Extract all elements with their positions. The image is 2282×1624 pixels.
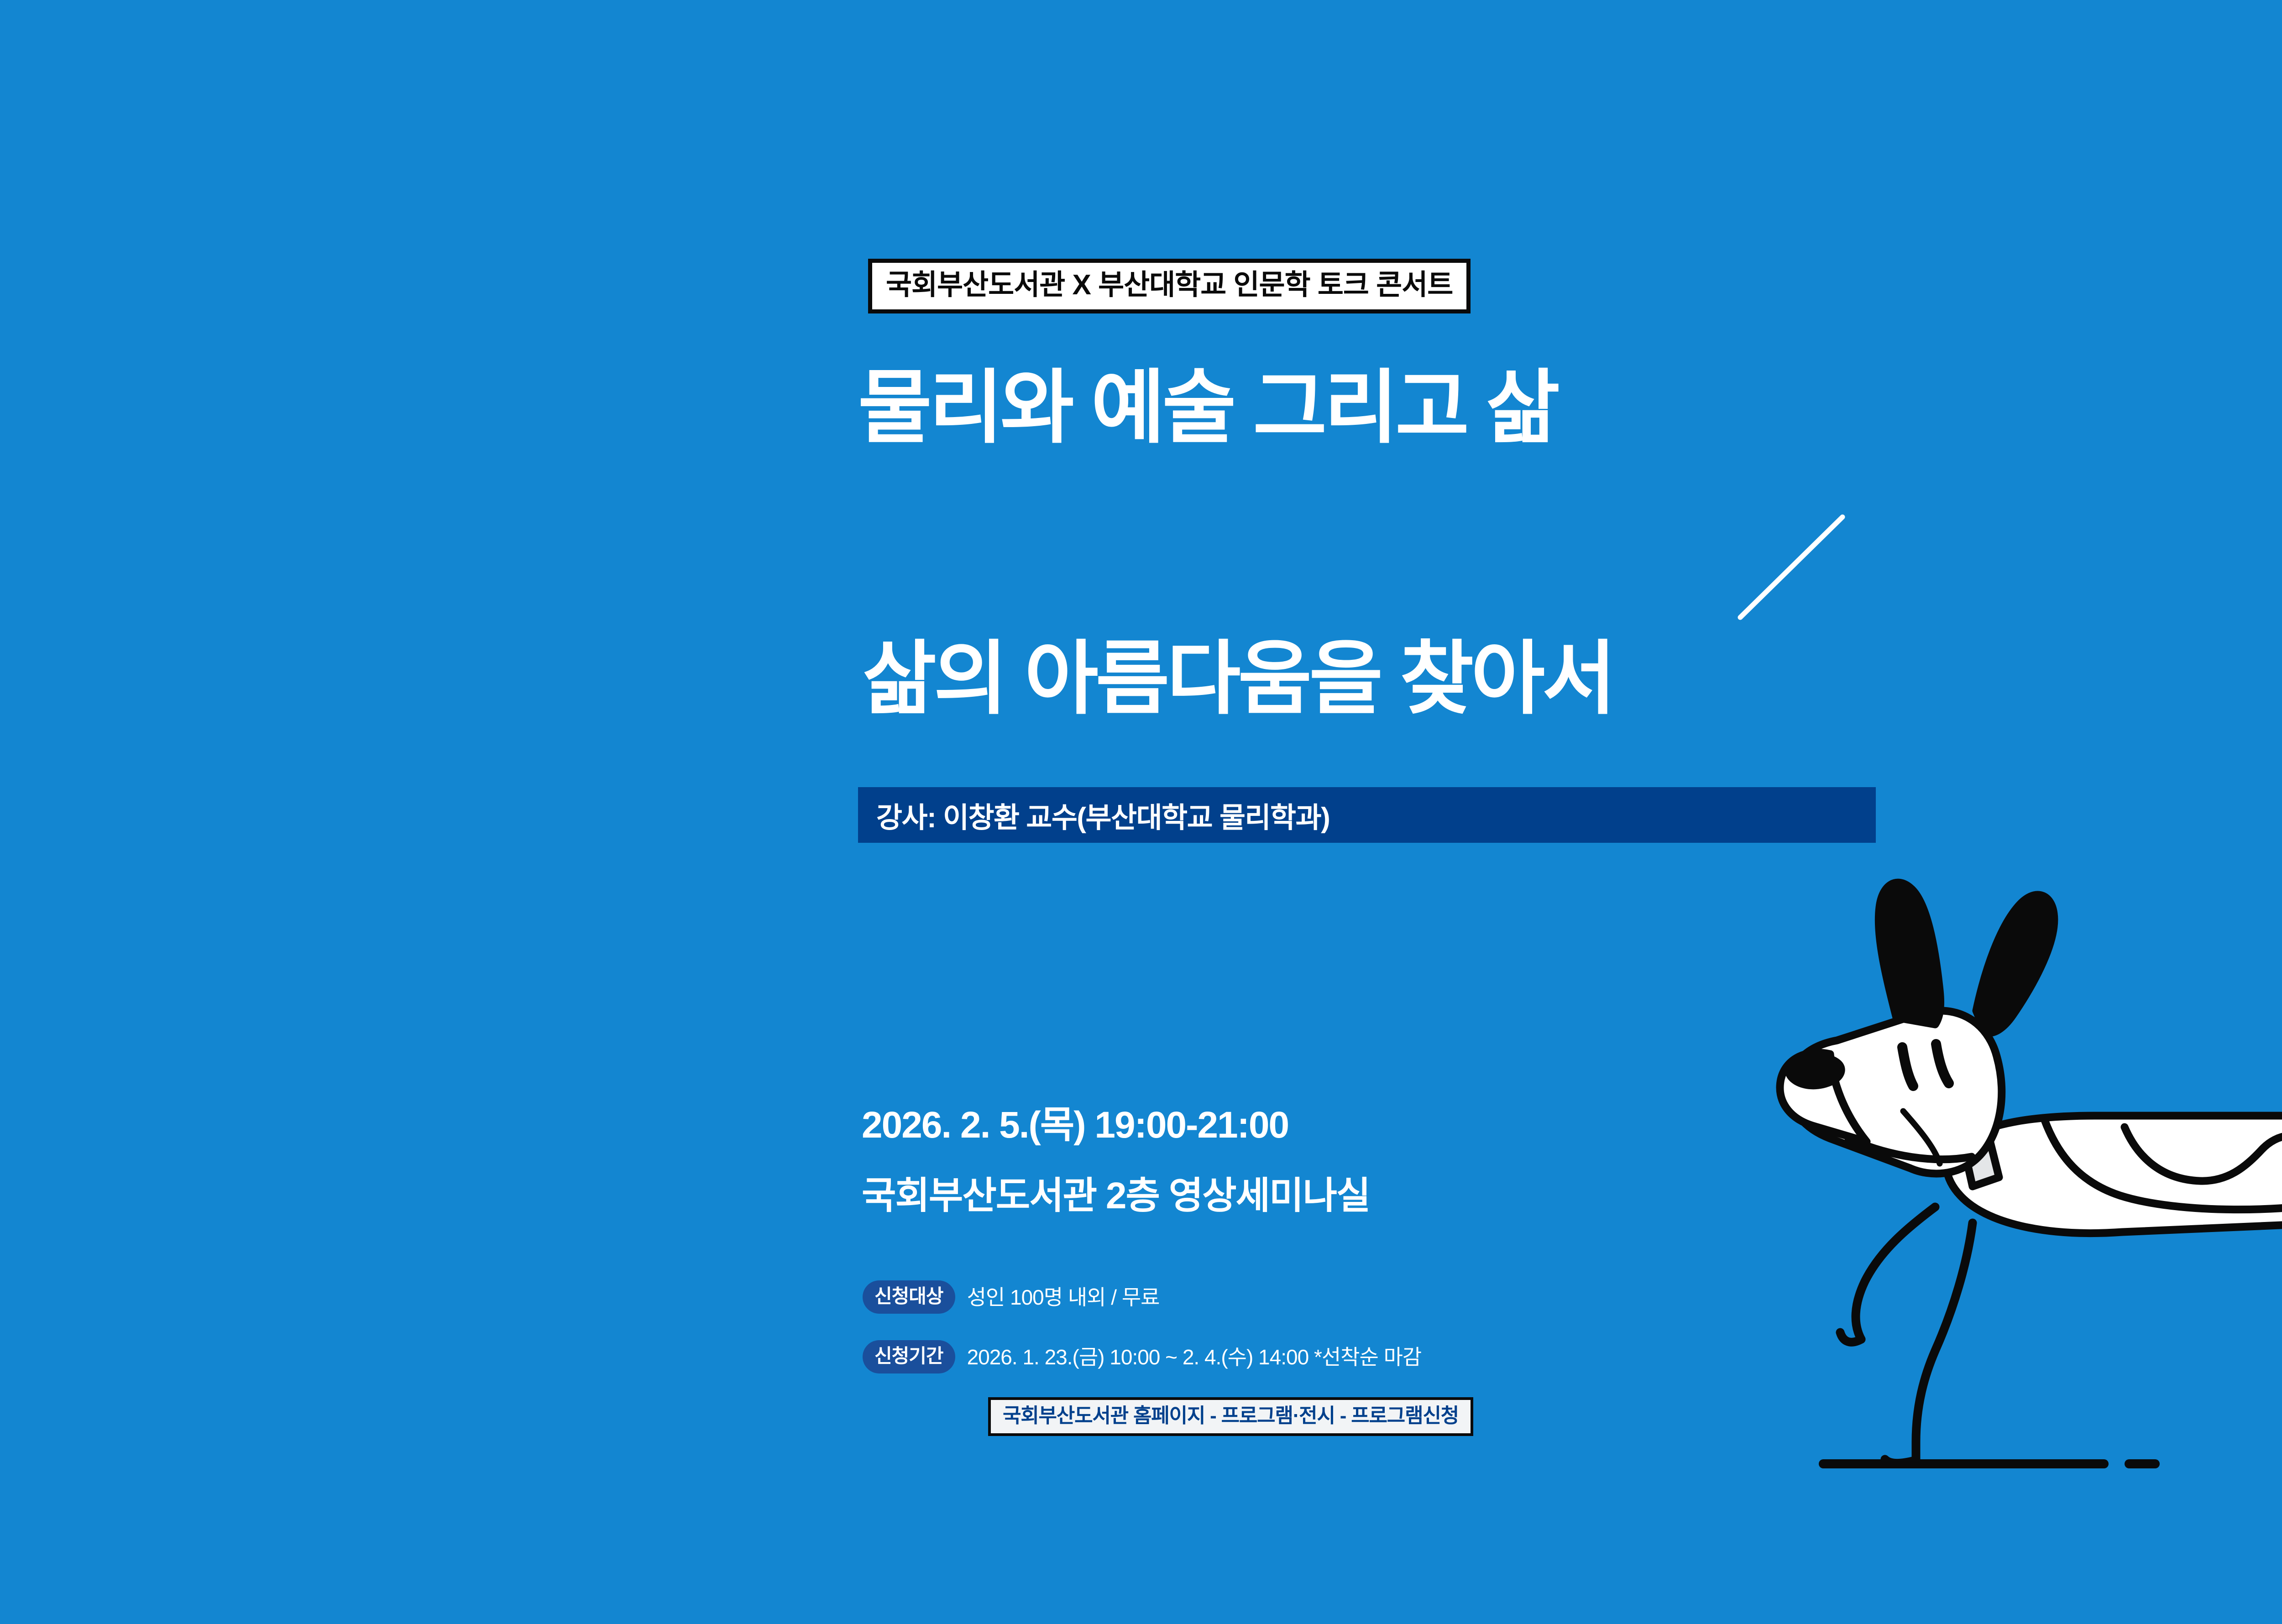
detail-pill-period: 신청기간 — [863, 1340, 955, 1373]
dog — [1780, 882, 2282, 1463]
application-path-box: 국회부산도서관 홈페이지 - 프로그램·전시 - 프로그램신청 — [988, 1397, 1473, 1436]
detail-value-audience: 성인 100명 내외 / 무료 — [967, 1287, 1160, 1308]
detail-row: 신청기간 2026. 1. 23.(금) 10:00 ~ 2. 4.(수) 14… — [863, 1340, 1421, 1373]
event-date-time: 2026. 2. 5.(목) 19:00-21:00 — [862, 1107, 1288, 1144]
detail-row: 신청대상 성인 100명 내외 / 무료 — [863, 1280, 1159, 1314]
man-walking-dog-illustration — [1575, 475, 2282, 1533]
detail-value-period: 2026. 1. 23.(금) 10:00 ~ 2. 4.(수) 14:00 *… — [967, 1347, 1422, 1368]
detail-pill-audience: 신청대상 — [863, 1280, 955, 1314]
collaboration-badge: 국회부산도서관 X 부산대학교 인문학 토크 콘서트 — [868, 259, 1471, 313]
headline-line-2: 삶의 아름다움을 찾아서 — [863, 639, 1613, 719]
speaker-label: 강사: 이창환 교수(부산대학교 물리학과) — [858, 794, 1329, 835]
event-venue: 국회부산도서관 2층 영상세미나실 — [862, 1177, 1370, 1215]
headline-line-1: 물리와 예술 그리고 삶 — [858, 368, 1557, 448]
event-banner: 국회부산도서관 X 부산대학교 인문학 토크 콘서트 물리와 예술 그리고 삶 … — [0, 0, 2282, 1624]
